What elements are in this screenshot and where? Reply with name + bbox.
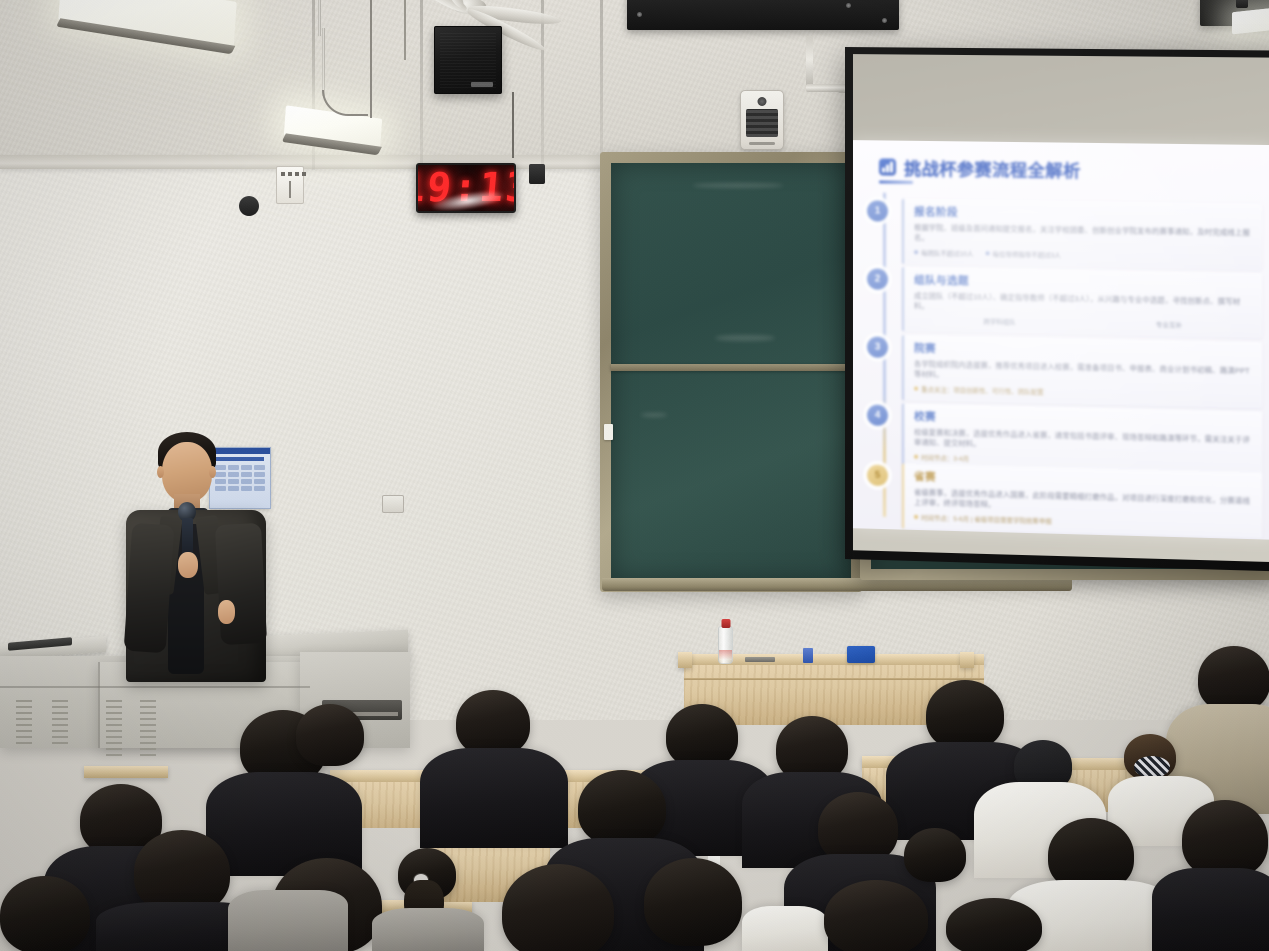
step-tag: 时间节点：5-6月 | 省级项目需要学院统筹申报: [914, 513, 1052, 526]
slide-step: 1 报名阶段 根据学院、班级及首问通知提交报名，关注学校团委、创新创业学院发布的…: [867, 198, 1262, 270]
step-tag: 每位导师指导不超过3人: [985, 249, 1060, 259]
wall-seam: [600, 0, 603, 160]
step-card: 省赛 省级赛事，选拔优秀作品进入国赛，此阶段需要精细打磨作品，对项目进行深度打磨…: [902, 463, 1262, 538]
led-clock: 19:13: [416, 163, 516, 213]
board-side-tag: [604, 424, 613, 440]
blackboard: [600, 152, 862, 592]
light-switch-plate[interactable]: [276, 166, 304, 204]
audience-head: [456, 690, 530, 756]
step-tags: 每团队不超过10人 每位导师指导不超过3人: [914, 248, 1253, 263]
panel-seam: [98, 662, 100, 748]
step-number-badge: 2: [867, 268, 888, 289]
wall-fixture: [529, 164, 545, 184]
front-desk-seam: [684, 678, 984, 680]
front-desk-corner: [678, 652, 692, 668]
step-body: 根据学院、班级及首问通知提交报名，关注学校团委、创新创业学院发布的赛事通知，及时…: [914, 223, 1253, 249]
presenter: [110, 420, 290, 680]
step-tag: 时间节点：3-4月: [914, 453, 969, 463]
presenter-ear: [157, 466, 164, 478]
audience-head: [1182, 800, 1268, 878]
slide-step: 5 省赛 省级赛事，选拔优秀作品进入国赛，此阶段需要精细打磨作品，对项目进行深度…: [867, 463, 1262, 539]
presenter-arm-left: [124, 523, 175, 654]
speaker-cable: [512, 92, 514, 158]
vent-slats: [16, 700, 32, 748]
presenter-head: [162, 442, 212, 502]
slide-step: 3 院赛 各学院组织院内选拔赛，推荐优秀项目进入校赛，需准备项目书、申报表、商业…: [867, 334, 1262, 408]
step-body: 校级复赛和决赛，选拔优秀作品进入省赛，通常包括书面评审、现场答辩和路演等环节，需…: [914, 428, 1253, 457]
step-card: 组队与选题 成立团队（不超过10人）、确定指导教师（不超过3人），从兴趣与专业中…: [902, 267, 1262, 338]
ceiling-wire: [370, 0, 372, 118]
step-heading: 报名阶段: [914, 204, 1253, 224]
conduit-drop: [806, 36, 813, 88]
vent-slats: [140, 700, 156, 756]
step-card: 院赛 各学院组织院内选拔赛，推荐优秀项目进入校赛，需准备项目书、申报表、商业计划…: [902, 335, 1262, 408]
wall-bracket: [1236, 0, 1248, 8]
audience-head: [666, 704, 738, 768]
blackboard-surface: [611, 163, 851, 581]
wall-speaker-small: [239, 196, 259, 216]
presentation-slide: 挑战杯参赛流程全解析 1 报名阶段 根据学院、班级及首问通知提交报名，关注学校团…: [853, 140, 1269, 540]
step-number-badge: 3: [867, 336, 888, 357]
chart-icon: [879, 158, 896, 175]
audience-body: [372, 908, 484, 951]
step-heading: 组队与选题: [914, 272, 1253, 293]
small-blue-device[interactable]: [803, 648, 813, 663]
presenter-ear: [209, 466, 216, 478]
wall-seam: [420, 0, 423, 170]
step-body: 成立团队（不超过10人）、确定指导教师（不超过3人），从兴趣与专业中选题，寻找创…: [914, 291, 1253, 318]
presenter-hand-mic: [178, 552, 198, 578]
motion-sensor-icon: [740, 90, 784, 150]
step-number-badge: 5: [867, 465, 888, 487]
audience-head: [644, 858, 742, 946]
presenter-hand-free: [218, 600, 235, 624]
panel-seam: [0, 686, 310, 688]
lecture-hall-photo: 19:13: [0, 0, 1269, 951]
water-bottle[interactable]: [718, 626, 733, 664]
light-hanger-rod: [318, 0, 321, 36]
audience-body: [1152, 868, 1269, 951]
meta-item: 专业互补: [1156, 320, 1182, 330]
audience-head: [502, 864, 614, 951]
audience-head: [904, 828, 966, 882]
hair-scrunchie: [1134, 756, 1170, 778]
vent-slats: [52, 700, 68, 748]
audience-head: [0, 876, 90, 951]
conduit-elbow: [806, 84, 844, 92]
audience-body: [420, 748, 568, 848]
blue-box[interactable]: [847, 646, 875, 663]
screen-surface: 挑战杯参赛流程全解析 1 报名阶段 根据学院、班级及首问通知提交报名，关注学校团…: [853, 54, 1269, 562]
light-hanger-rod-2: [322, 28, 325, 96]
audience-body: [742, 906, 828, 951]
audience-head: [824, 880, 928, 951]
presenter-arm-right: [215, 523, 267, 645]
slide-title-row: 挑战杯参赛流程全解析: [879, 154, 1081, 182]
meta-item: 跨学科组队: [983, 316, 1015, 326]
blackboard-divider: [611, 364, 851, 371]
wall-seam: [541, 0, 544, 170]
audience-head: [946, 898, 1042, 951]
slide-step: 2 组队与选题 成立团队（不超过10人）、确定指导教师（不超过3人），从兴趣与专…: [867, 266, 1262, 338]
step-number-badge: 1: [867, 200, 888, 221]
wall-speaker-left: [434, 26, 502, 94]
projection-screen: 挑战杯参赛流程全解析 1 报名阶段 根据学院、班级及首问通知提交报名，关注学校团…: [845, 47, 1269, 572]
audience-head: [926, 680, 1004, 750]
slide-title: 挑战杯参赛流程全解析: [904, 155, 1081, 182]
desk-remote[interactable]: [745, 657, 775, 662]
bench-row-far: [84, 766, 168, 778]
step-heading: 院赛: [914, 340, 1253, 362]
audience-body-plaid: [228, 890, 348, 951]
step-card: 报名阶段 根据学院、班级及首问通知提交报名，关注学校团委、创新创业学院发布的赛事…: [902, 199, 1262, 270]
audience-head: [578, 770, 666, 846]
step-tag: 重点关注：项目创新性、可行性、团队配置: [914, 384, 1044, 396]
audience-head: [296, 704, 364, 766]
audience-head: [1198, 646, 1269, 712]
ceiling-panel-left: [627, 0, 899, 30]
front-desk-corner: [960, 652, 974, 668]
step-tag: 每团队不超过10人: [914, 248, 973, 258]
vent-slats: [106, 700, 122, 756]
wall-outlet[interactable]: [382, 495, 404, 513]
title-underline: [879, 180, 913, 183]
ceiling-wire: [404, 0, 406, 60]
step-number-badge: 4: [867, 404, 888, 426]
step-tags: 重点关注：项目创新性、可行性、团队配置: [914, 384, 1253, 400]
step-body: 各学院组织院内选拔赛，推荐优秀项目进入校赛，需准备项目书、申报表、商业计划书初稿…: [914, 359, 1253, 387]
